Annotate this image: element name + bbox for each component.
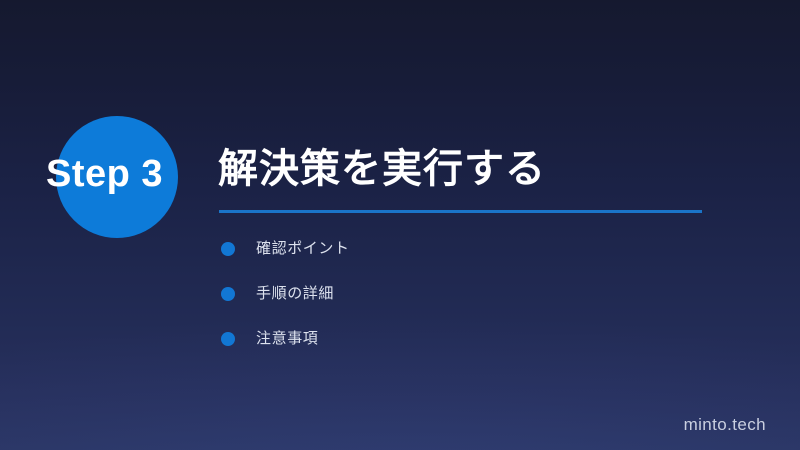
list-item: 確認ポイント <box>219 238 350 283</box>
list-item-label: 手順の詳細 <box>256 283 334 305</box>
list-item-label: 注意事項 <box>256 328 318 350</box>
step-badge-label: Step 3 <box>46 152 163 196</box>
list-item-label: 確認ポイント <box>256 238 350 260</box>
list-item: 注意事項 <box>219 328 350 373</box>
footer-brand: minto.tech <box>684 415 766 435</box>
bullet-dot-icon <box>221 287 235 301</box>
slide-canvas: Step 3 解決策を実行する 確認ポイント 手順の詳細 注意事項 minto.… <box>0 0 800 450</box>
bullet-dot-icon <box>221 332 235 346</box>
page-title: 解決策を実行する <box>218 143 546 195</box>
bullet-list: 確認ポイント 手順の詳細 注意事項 <box>219 238 350 373</box>
list-item: 手順の詳細 <box>219 283 350 328</box>
bullet-dot-icon <box>221 242 235 256</box>
title-divider <box>219 210 702 213</box>
